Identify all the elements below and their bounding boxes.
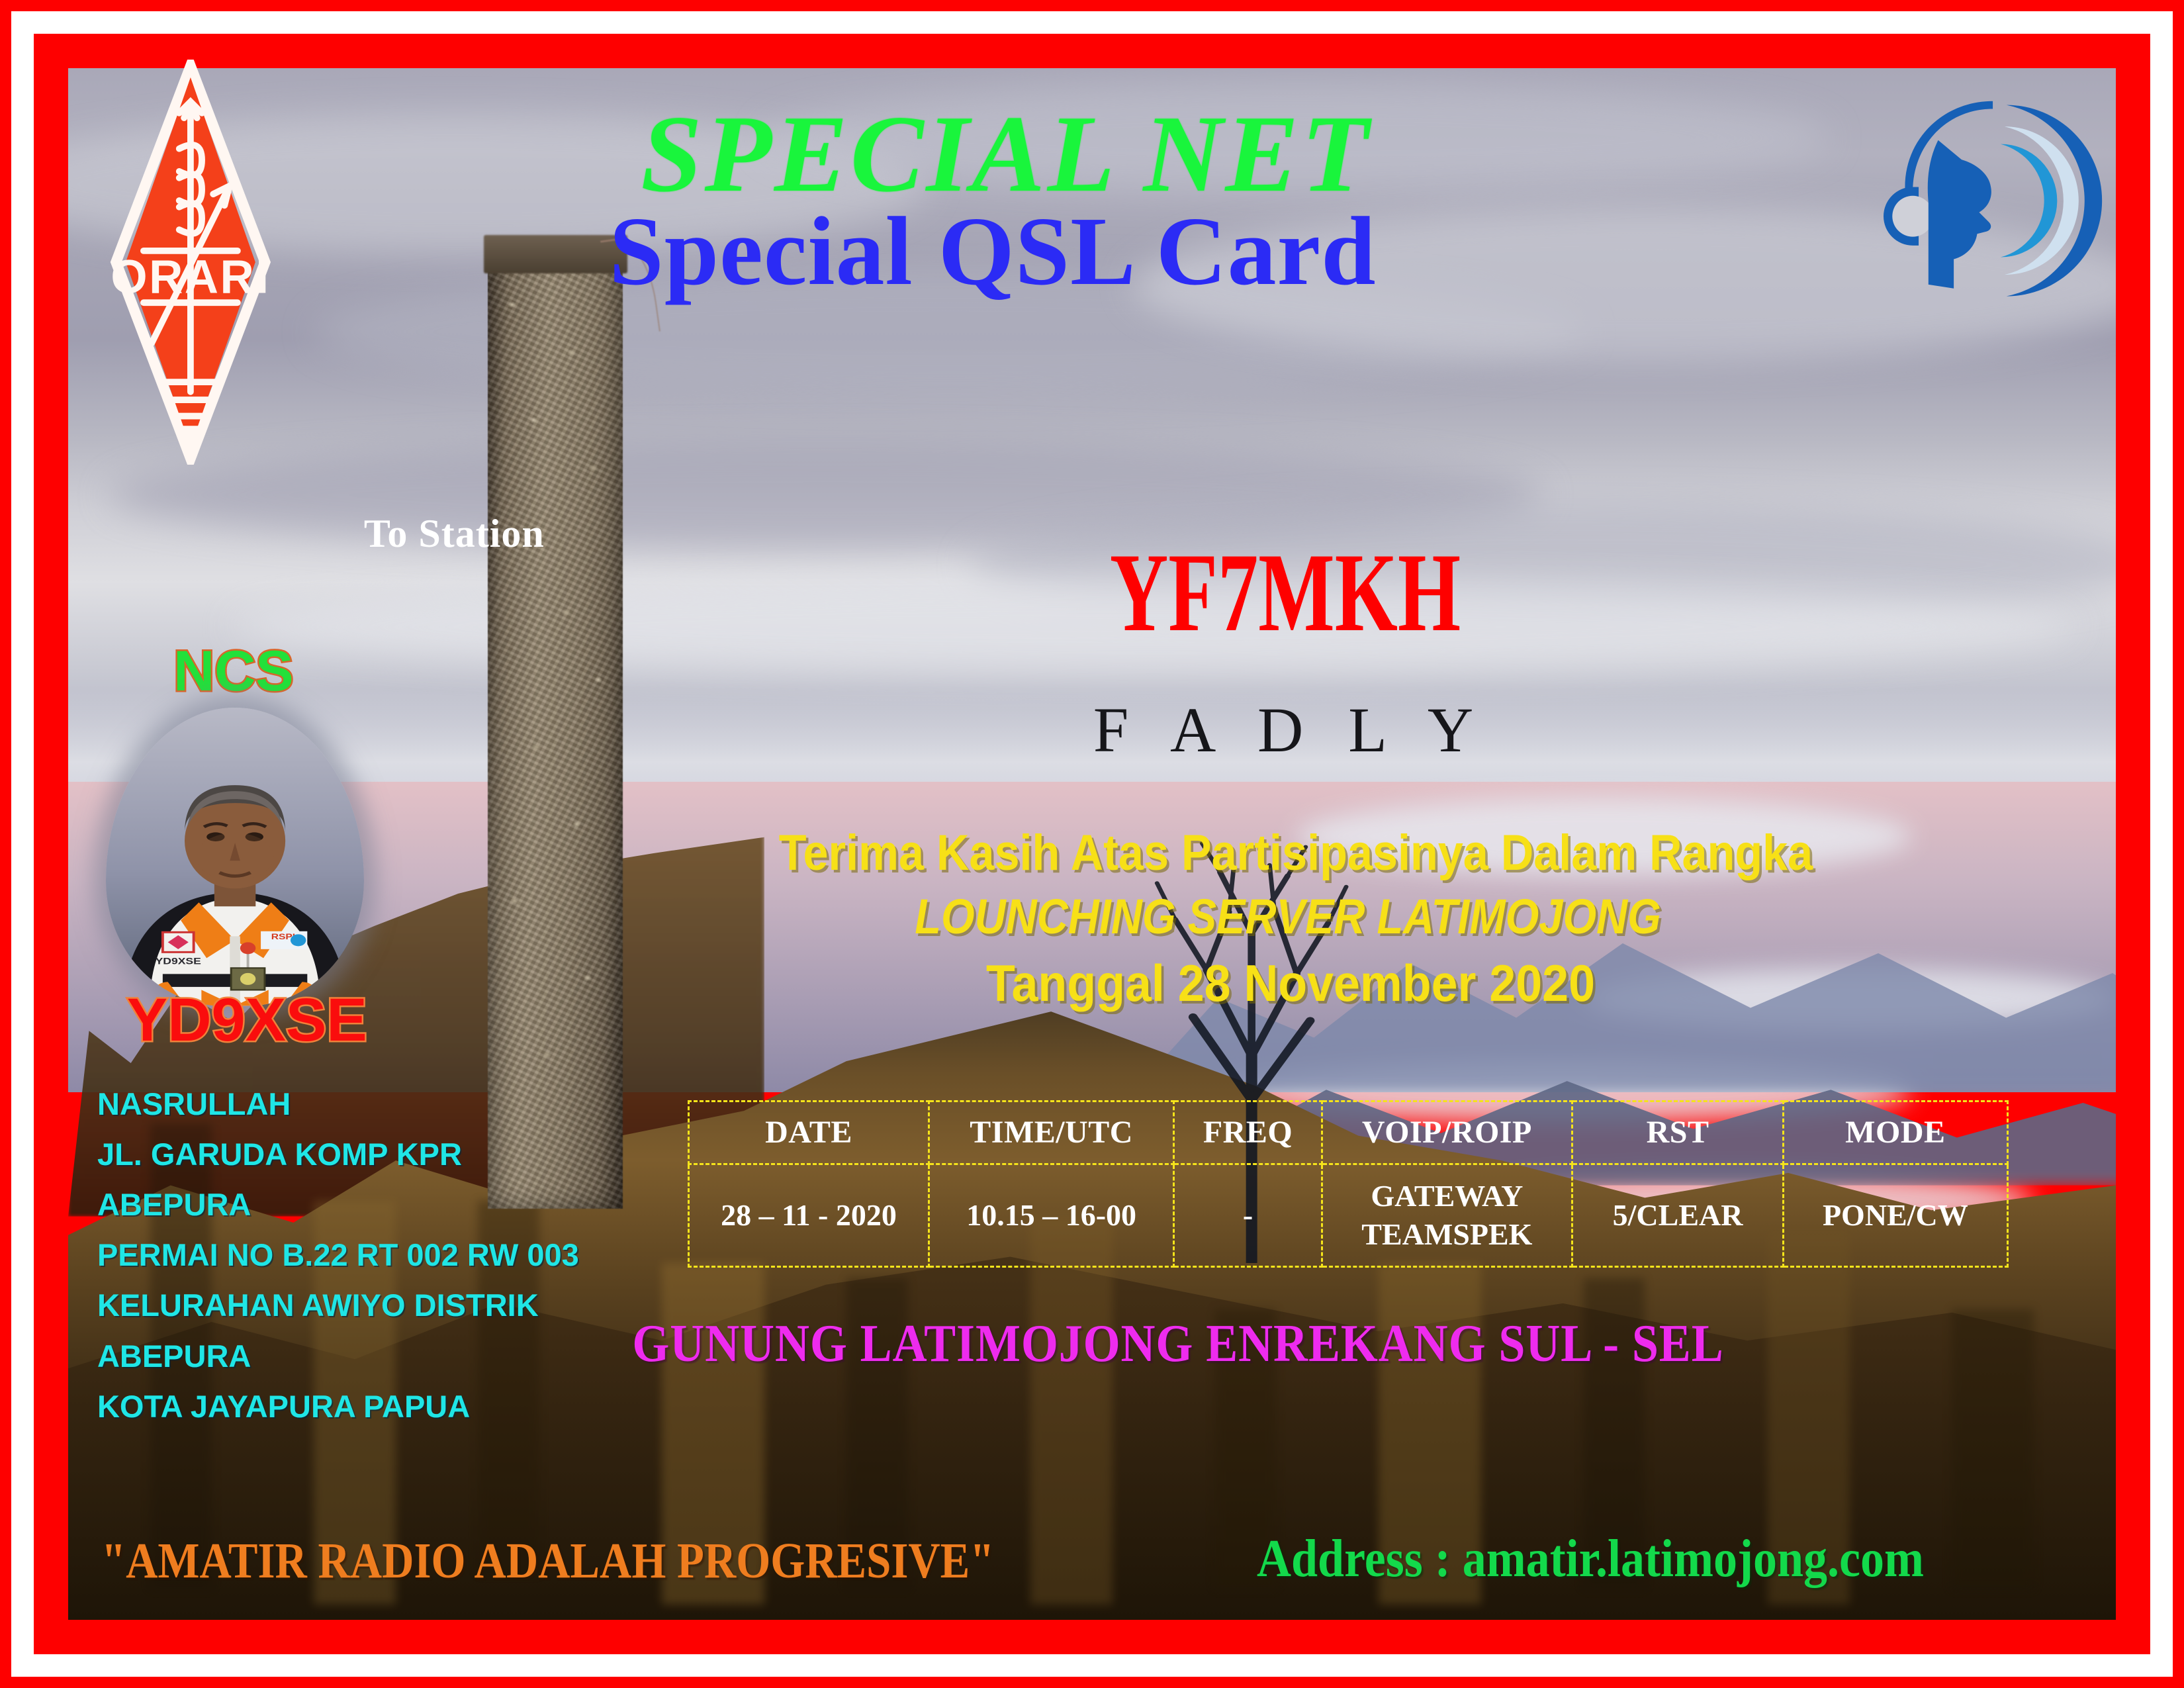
svg-text:YD9XSE: YD9XSE: [155, 957, 201, 967]
address-line: NASRULLAH: [97, 1079, 774, 1129]
address-block: NASRULLAH JL. GARUDA KOMP KPR ABEPURA PE…: [97, 1079, 774, 1432]
address-line: KOTA JAYAPURA PAPUA: [97, 1382, 774, 1432]
cell-time: 10.15 – 16-00: [929, 1164, 1174, 1266]
location-caption: GUNUNG LATIMOJONG ENREKANG SUL - SEL: [226, 1317, 2130, 1370]
card-content-layer: ORARI SPECIAL NET Special QSL Card To St…: [34, 34, 2150, 1654]
thanks-line-3: Tanggal 28 November 2020: [317, 957, 2184, 1009]
cell-date: 28 – 11 - 2020: [689, 1164, 929, 1266]
table-header-date: DATE: [689, 1101, 929, 1164]
cell-freq: -: [1174, 1164, 1322, 1266]
table-header-row: DATE TIME/UTC FREQ VOIP/ROIP RST MODE: [689, 1101, 2008, 1164]
ncs-callsign: YD9XSE: [127, 990, 367, 1051]
cell-voip-line1: GATEWAY: [1323, 1177, 1572, 1215]
footer-web-address: Address : amatir.latimojong.com: [1257, 1532, 1924, 1585]
thanks-line-1: Terima Kasih Atas Partisipasinya Dalam R…: [343, 828, 2184, 878]
address-line: PERMAI NO B.22 RT 002 RW 003: [97, 1230, 774, 1280]
table-header-mode: MODE: [1783, 1101, 2007, 1164]
address-line: JL. GARUDA KOMP KPR: [97, 1129, 774, 1180]
qso-log-table: DATE TIME/UTC FREQ VOIP/ROIP RST MODE 28…: [688, 1100, 2009, 1268]
footer-slogan: "AMATIR RADIO ADALAH PROGRESIVE": [101, 1536, 994, 1586]
cell-mode: PONE/CW: [1783, 1164, 2007, 1266]
table-row: 28 – 11 - 2020 10.15 – 16-00 - GATEWAY T…: [689, 1164, 2008, 1266]
station-callsign: YF7MKH: [523, 536, 2048, 649]
cell-rst: 5/CLEAR: [1572, 1164, 1784, 1266]
thanks-line-2: LOUNCHING SERVER LATIMOJONG: [357, 892, 2184, 941]
address-line: ABEPURA: [97, 1180, 774, 1230]
table-header-rst: RST: [1572, 1101, 1784, 1164]
card-white-band: ORARI SPECIAL NET Special QSL Card To St…: [11, 11, 2173, 1677]
operator-name: F A D L Y: [232, 698, 2184, 762]
cell-voip: GATEWAY TEAMSPEK: [1322, 1164, 1572, 1266]
page-subtitle-qsl-card: Special QSL Card: [0, 203, 2051, 301]
table-header-freq: FREQ: [1174, 1101, 1322, 1164]
cell-voip-line2: TEAMSPEK: [1323, 1215, 1572, 1254]
ncs-label: NCS: [173, 643, 294, 700]
to-station-label: To Station: [364, 514, 545, 553]
qsl-card: ORARI SPECIAL NET Special QSL Card To St…: [0, 0, 2184, 1688]
table-header-voip: VOIP/ROIP: [1322, 1101, 1572, 1164]
table-header-time: TIME/UTC: [929, 1101, 1174, 1164]
card-inner-red-border: ORARI SPECIAL NET Special QSL Card To St…: [34, 34, 2150, 1654]
page-title-special-net: SPECIAL NET: [0, 99, 2064, 209]
